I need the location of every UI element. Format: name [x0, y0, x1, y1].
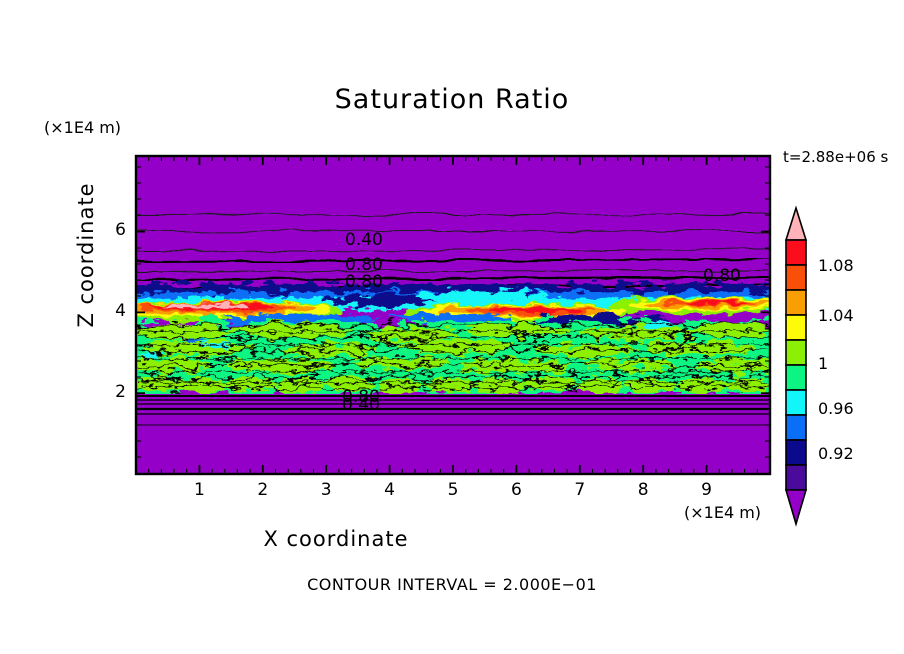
colorbar-band-2: [786, 265, 806, 290]
colorbar-tick-label-092: 0.92: [818, 444, 854, 463]
y-tick-label-6: 6: [104, 220, 126, 240]
y-tick-label-2: 2: [104, 382, 126, 402]
y-tick-label-4: 4: [104, 301, 126, 321]
x-tick-label-3: 3: [311, 480, 341, 500]
contour-label-040-upper: 0.40: [345, 230, 383, 250]
colorbar[interactable]: [786, 208, 806, 524]
contour-label-040-lower: 0.40: [342, 395, 380, 415]
colorbar-band-3: [786, 290, 806, 315]
colorbar-tick-label-108: 1.08: [818, 256, 854, 275]
x-tick-label-6: 6: [501, 480, 531, 500]
colorbar-band-1: [786, 240, 806, 265]
colorbar-band-10: [786, 465, 806, 490]
colorbar-band-5: [786, 340, 806, 365]
colorbar-band-8: [786, 415, 806, 440]
x-tick-label-4: 4: [375, 480, 405, 500]
x-tick-label-8: 8: [628, 480, 658, 500]
colorbar-over-arrow: [786, 208, 806, 240]
lower-purple-region: [136, 394, 770, 474]
contour-field: [118, 156, 790, 474]
contour-plot-panel: 0.40 0.80 0.80 0.80 0.80 0.40: [0, 0, 904, 654]
contour-label-080-upper-b: 0.80: [345, 272, 383, 292]
colorbar-band-9: [786, 440, 806, 465]
x-tick-label-7: 7: [565, 480, 595, 500]
x-tick-label-9: 9: [692, 480, 722, 500]
x-tick-label-2: 2: [248, 480, 278, 500]
colorbar-tick-label-096: 0.96: [818, 399, 854, 418]
colorbar-tick-label-104: 1.04: [818, 306, 854, 325]
colorbar-band-7: [786, 390, 806, 415]
mixing-layer: [118, 284, 790, 394]
contour-label-080-right: 0.80: [703, 266, 741, 286]
x-tick-label-5: 5: [438, 480, 468, 500]
colorbar-band-4: [786, 315, 806, 340]
colorbar-under-arrow: [786, 490, 806, 524]
colorbar-tick-label-1: 1: [818, 354, 828, 373]
x-tick-label-1: 1: [184, 480, 214, 500]
colorbar-band-6: [786, 365, 806, 390]
